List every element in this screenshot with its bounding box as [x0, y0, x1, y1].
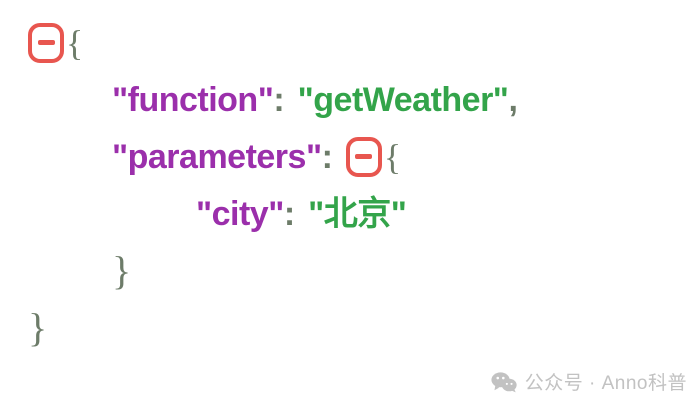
parameters-toggle-wrap: {	[346, 137, 401, 177]
json-line-root-open: {	[0, 14, 699, 71]
json-viewer: { "function" : "getWeather" , "parameter…	[0, 0, 699, 405]
brace-open-parameters: {	[384, 139, 401, 175]
brace-open-root: {	[66, 25, 83, 61]
watermark-text: 公众号 · Anno科普	[525, 368, 687, 395]
json-key-city[interactable]: "city"	[196, 197, 284, 231]
json-colon: :	[322, 140, 333, 174]
minus-icon	[38, 40, 55, 45]
wechat-icon	[491, 371, 517, 393]
brace-close-root: }	[28, 308, 47, 348]
json-colon: :	[273, 83, 284, 117]
json-value-function[interactable]: "getWeather"	[298, 83, 509, 117]
json-line-parameters: "parameters" : {	[0, 128, 699, 185]
json-key-parameters[interactable]: "parameters"	[112, 140, 322, 174]
collapse-toggle-root[interactable]	[28, 23, 64, 63]
json-line-parameters-close: }	[0, 242, 699, 299]
collapse-toggle-parameters[interactable]	[346, 137, 382, 177]
json-line-function: "function" : "getWeather" ,	[0, 71, 699, 128]
watermark: 公众号 · Anno科普	[491, 368, 687, 395]
brace-close-parameters: }	[112, 251, 131, 291]
json-comma: ,	[508, 83, 517, 117]
minus-icon	[355, 154, 372, 159]
json-line-city: "city" : "北京"	[0, 185, 699, 242]
json-value-city[interactable]: "北京"	[308, 197, 406, 231]
json-key-function[interactable]: "function"	[112, 83, 273, 117]
json-line-root-close: }	[0, 299, 699, 356]
json-colon: :	[284, 197, 295, 231]
